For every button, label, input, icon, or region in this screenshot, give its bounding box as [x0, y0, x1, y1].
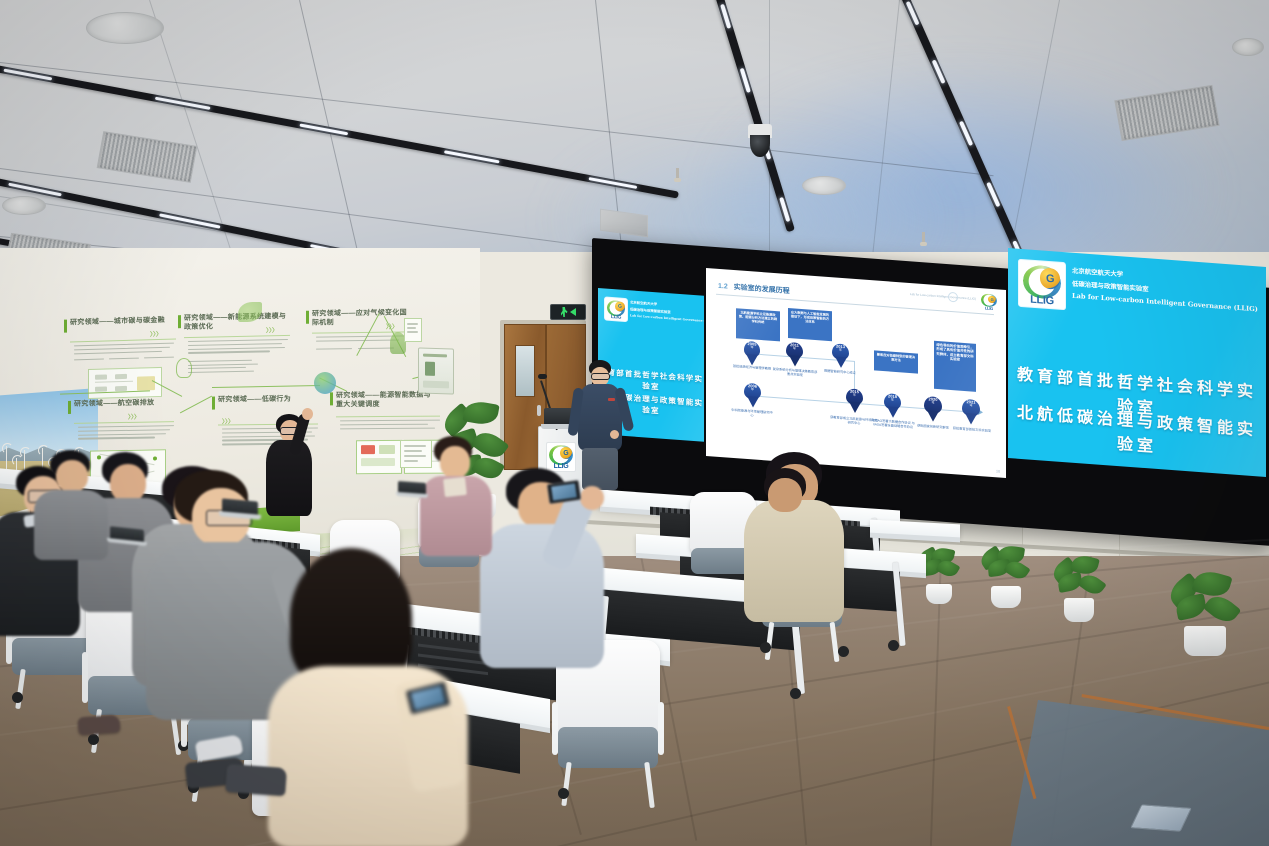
- potted-plant: [1052, 556, 1106, 622]
- video-panel-right-title-slide: LLIG 北京航空航天大学 低碳治理与政策智能实验室 Lab for Low-c…: [1008, 248, 1266, 477]
- attendee-tablet[interactable]: [398, 481, 426, 501]
- hand: [580, 486, 604, 510]
- chair-caster: [838, 646, 849, 657]
- wall-globe-icon: [314, 372, 336, 394]
- hand-pointing: [302, 408, 313, 420]
- llig-logo-box: LLIG: [604, 296, 628, 322]
- chair-caster: [12, 692, 23, 703]
- ceiling-speaker: [2, 196, 46, 215]
- slide-secondary-logo: [948, 292, 958, 303]
- timeline-caption-2005: 首批能源经济与管理学教授: [730, 364, 774, 371]
- head: [440, 446, 470, 478]
- timeline-pin-2020: 2020年: [924, 396, 942, 419]
- table-caster: [888, 640, 899, 651]
- potted-plant: [1168, 572, 1242, 656]
- attendee-laptop[interactable]: [222, 498, 258, 523]
- hand: [610, 430, 619, 439]
- head: [768, 478, 802, 512]
- wall-panel-title: 研究领域——低碳行为: [218, 394, 316, 404]
- slide-callout-3: 聚焦应对低碳转型的管理决策方法: [874, 350, 918, 373]
- wall-panel-urban-carbon: 研究领域——城市碳与碳金融 〉〉〉: [64, 316, 182, 397]
- potted-plant: [980, 546, 1032, 608]
- chevron-icon: 〉〉〉: [266, 325, 278, 334]
- shirt-accent: [608, 398, 615, 401]
- timeline-axis-bottom: [748, 395, 980, 413]
- wall-bulb-icon: [176, 358, 192, 378]
- head: [56, 460, 88, 492]
- slide-callout-2: 在大数据与人工智能发展的推动下，形成政策智能的方法体系: [788, 308, 832, 341]
- air-vent: [97, 131, 198, 183]
- timeline-pin-2018: 2018年: [884, 393, 901, 415]
- wall-panel-title: 研究领域——城市碳与碳金融: [70, 316, 174, 328]
- slide-header-en: Lab for Low-carbon Intelligent Governanc…: [910, 292, 976, 301]
- lanyard: [443, 477, 467, 497]
- chair-caster: [88, 734, 99, 745]
- chair-caster: [760, 642, 771, 653]
- slide-callout-4: 绿色导向的价值观牵引，形成了具有价值共性的研究群体，成立教育部文科实验室: [934, 341, 976, 392]
- glasses: [591, 373, 610, 380]
- ceiling-speaker: [802, 176, 846, 195]
- timeline-caption-2013: 数据智能研究中心成立: [818, 368, 862, 375]
- slide-lab-name-en: Lab for Low-carbon Intelligent Governanc…: [1072, 292, 1258, 314]
- attendee-head-silhouette: [758, 468, 812, 520]
- microphone-head: [538, 374, 547, 379]
- slide-org-name: 北京航空航天大学: [630, 299, 657, 306]
- slide-llig-logo: LLIG: [980, 292, 998, 311]
- timeline-caption-2011: 复杂系统分析与管理决策教育部重点实验室: [772, 367, 818, 379]
- table-caster: [790, 688, 801, 699]
- chair-caster: [558, 788, 569, 799]
- timeline-pin-2011: 2011年: [786, 342, 803, 364]
- attendee-laptop[interactable]: [110, 526, 144, 550]
- slide-section-number: 1.2: [718, 283, 728, 291]
- timeline-pin-2005: 2005年: [744, 341, 760, 362]
- exit-sign: [550, 304, 586, 320]
- electrical-cabinet: [418, 347, 454, 394]
- timeline-caption-2006: 中科院能源与环境管理研究中心: [730, 408, 774, 419]
- chevron-icon: 〉〉〉: [128, 412, 140, 421]
- shoe: [225, 764, 287, 796]
- sprinkler-head: [676, 168, 679, 179]
- slide-section-title: 实验室的发展历程: [734, 284, 790, 295]
- chevron-icon: 〉〉〉: [150, 329, 162, 338]
- timeline-pin-2006: 2006年: [744, 383, 761, 405]
- llig-logo-box: LLIG: [1018, 259, 1066, 311]
- wall-panel-title: 研究领域——航空碳排放: [74, 398, 170, 409]
- ceiling-speaker: [86, 12, 164, 44]
- wall-panel-new-energy: 研究领域——新能源系统建模与政策优化 〉〉〉: [178, 313, 296, 395]
- video-panel-center-timeline-slide: 1.2 实验室的发展历程 LLIG Lab for Low-carbon Int…: [706, 268, 1006, 478]
- slide-lab-name-cn: 低碳治理与政策智能实验室: [1072, 279, 1149, 294]
- llig-wordmark: LLIG: [1019, 293, 1065, 308]
- slide-lab-name-en: Lab for Low-carbon Intelligent Governanc…: [630, 313, 704, 323]
- slide-org-name: 北京航空航天大学: [1072, 266, 1123, 279]
- timeline-pin-2015: 2015年: [846, 388, 863, 410]
- room-photo-scene: 研究领域——城市碳与碳金融 〉〉〉 研究领域——新能源系统建模与政策优化 〉〉〉: [0, 0, 1269, 846]
- slide-page-number: 10: [996, 469, 1000, 473]
- smoke-detector: [1232, 38, 1264, 56]
- torso: [480, 524, 604, 668]
- timeline-pin-2013: 2013年: [832, 343, 849, 365]
- shoe-sneaker: [77, 715, 120, 736]
- attendee-back-left: [34, 450, 110, 560]
- slide-callout-1: 北航能源学科立足能源政策、能源分析方法建立的跨学科传统: [736, 308, 780, 341]
- attendee-near-podium: [420, 436, 496, 556]
- timeline-caption-2021: 获批教育部首批文科实验室: [948, 426, 996, 434]
- llig-wordmark: LLIG: [605, 313, 627, 321]
- timeline-pin-2021: 2021年: [962, 399, 980, 422]
- dome-camera: [748, 124, 772, 157]
- wall-notice: [404, 318, 422, 342]
- torso: [34, 490, 108, 560]
